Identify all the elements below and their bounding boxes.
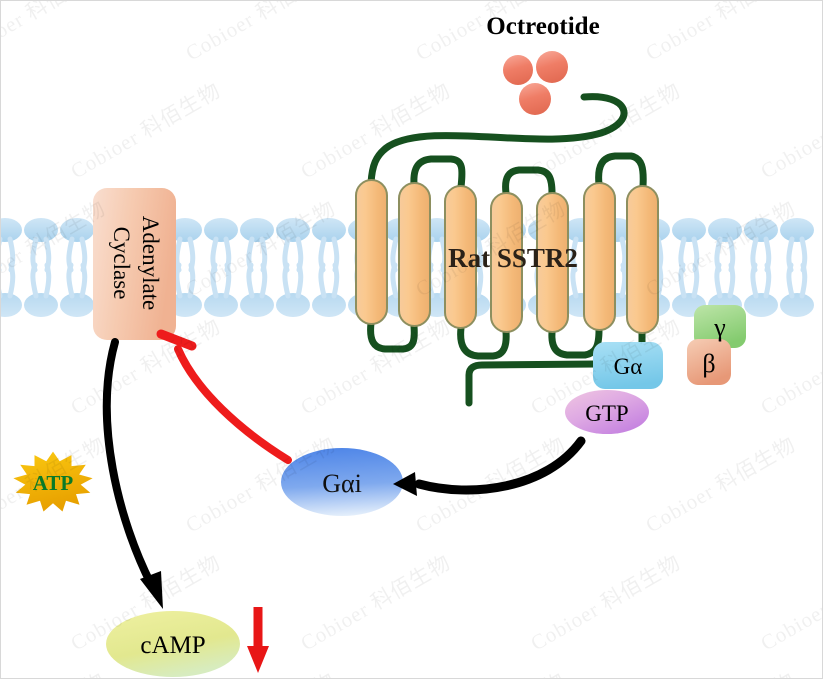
phospholipid-lower xyxy=(312,265,346,317)
camp-ellipse xyxy=(106,611,240,677)
galpha-box xyxy=(593,342,663,389)
phospholipid-upper xyxy=(744,218,778,270)
intracellular-loop-2 xyxy=(461,328,507,356)
phospholipid-upper xyxy=(60,218,94,270)
beta-box xyxy=(687,339,731,385)
adenylate-cyclase-box xyxy=(93,188,176,340)
transmembrane-helix-1 xyxy=(356,180,387,324)
phospholipid-lower xyxy=(276,265,310,317)
camp-production-arrow xyxy=(107,342,163,609)
receptor-helices xyxy=(356,180,658,333)
phospholipid-lower xyxy=(60,265,94,317)
phospholipid-lower xyxy=(744,265,778,317)
octreotide-residue-2 xyxy=(536,51,568,83)
transmembrane-helix-6 xyxy=(584,183,615,330)
transmembrane-helix-7 xyxy=(627,186,658,333)
phospholipid-lower xyxy=(240,265,274,317)
intracellular-loop-3 xyxy=(552,330,599,355)
phospholipid-upper xyxy=(276,218,310,270)
atp-star-shape xyxy=(13,452,92,512)
phospholipid-upper xyxy=(780,218,814,270)
octreotide-residue-1 xyxy=(503,55,533,85)
diagram-canvas: Cobioer 科佰生物Cobioer 科佰生物Cobioer 科佰生物Cobi… xyxy=(0,0,823,679)
intracellular-loop-1 xyxy=(371,323,415,349)
phospholipid-upper xyxy=(24,218,58,270)
phospholipid-upper xyxy=(1,218,22,270)
phospholipid-lower xyxy=(1,265,22,317)
extracellular-loop-2 xyxy=(506,170,552,193)
extracellular-loop-3 xyxy=(599,156,644,186)
phospholipid-lower xyxy=(780,265,814,317)
phospholipid-lower xyxy=(24,265,58,317)
phospholipid-upper xyxy=(312,218,346,270)
octreotide-molecule xyxy=(503,51,568,115)
gai-ellipse xyxy=(281,448,403,516)
receptor-n-terminus xyxy=(371,97,624,183)
dissociation-arrow xyxy=(393,441,581,496)
phospholipid-upper xyxy=(240,218,274,270)
gtp-ellipse xyxy=(565,390,649,434)
camp-decrease-arrow xyxy=(247,607,269,673)
phospholipid-upper xyxy=(204,218,238,270)
inhibition-arrow xyxy=(161,334,288,460)
transmembrane-helix-3 xyxy=(445,186,476,328)
phospholipid-lower xyxy=(204,265,238,317)
phospholipid-upper xyxy=(672,218,706,270)
atp-starburst xyxy=(13,452,92,512)
transmembrane-helix-2 xyxy=(399,183,430,326)
extracellular-loop-1 xyxy=(414,159,462,187)
octreotide-residue-3 xyxy=(519,83,551,115)
transmembrane-helix-4 xyxy=(491,193,522,332)
pathway-artwork xyxy=(1,1,823,679)
phospholipid-upper xyxy=(708,218,742,270)
transmembrane-helix-5 xyxy=(537,193,568,332)
